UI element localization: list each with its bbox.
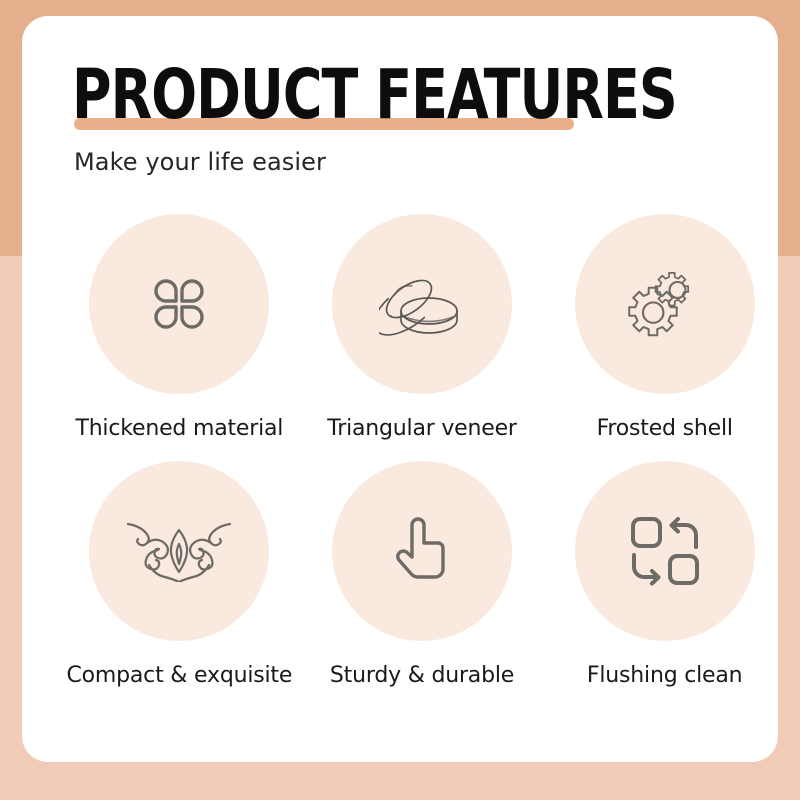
features-grid: Thickened material (58, 214, 786, 708)
feature-label: Triangular veneer (327, 416, 517, 441)
page-title: PRODUCT FEATURES (72, 60, 677, 128)
feature-item-frosted-shell: Frosted shell (543, 214, 786, 441)
feature-item-triangular-veneer: Triangular veneer (301, 214, 544, 441)
feature-label: Thickened material (75, 416, 283, 441)
pointing-hand-icon (390, 513, 454, 589)
page-subtitle: Make your life easier (74, 148, 326, 176)
gears-icon (625, 265, 705, 343)
swap-exchange-icon (629, 515, 701, 587)
icon-circle (89, 214, 269, 394)
content-card: PRODUCT FEATURES Make your life easier (22, 16, 778, 762)
product-features-poster: PRODUCT FEATURES Make your life easier (0, 0, 800, 800)
feature-item-compact-exquisite: Compact & exquisite (58, 461, 301, 688)
icon-circle (89, 461, 269, 641)
feature-item-thickened-material: Thickened material (58, 214, 301, 441)
feature-item-sturdy-durable: Sturdy & durable (301, 461, 544, 688)
icon-circle (332, 214, 512, 394)
feature-label: Sturdy & durable (330, 663, 514, 688)
filigree-flourish-icon (125, 520, 233, 582)
clover-four-petal-icon (143, 268, 215, 340)
feature-label: Compact & exquisite (66, 663, 292, 688)
header: PRODUCT FEATURES Make your life easier (52, 52, 752, 192)
icon-circle (575, 461, 755, 641)
feature-label: Frosted shell (597, 416, 733, 441)
feature-item-flushing-clean: Flushing clean (543, 461, 786, 688)
stacked-discs-icon (379, 264, 465, 344)
features-row: Thickened material (58, 214, 786, 441)
icon-circle (332, 461, 512, 641)
icon-circle (575, 214, 755, 394)
feature-label: Flushing clean (587, 663, 743, 688)
features-row: Compact & exquisite Sturdy & durable (58, 461, 786, 688)
